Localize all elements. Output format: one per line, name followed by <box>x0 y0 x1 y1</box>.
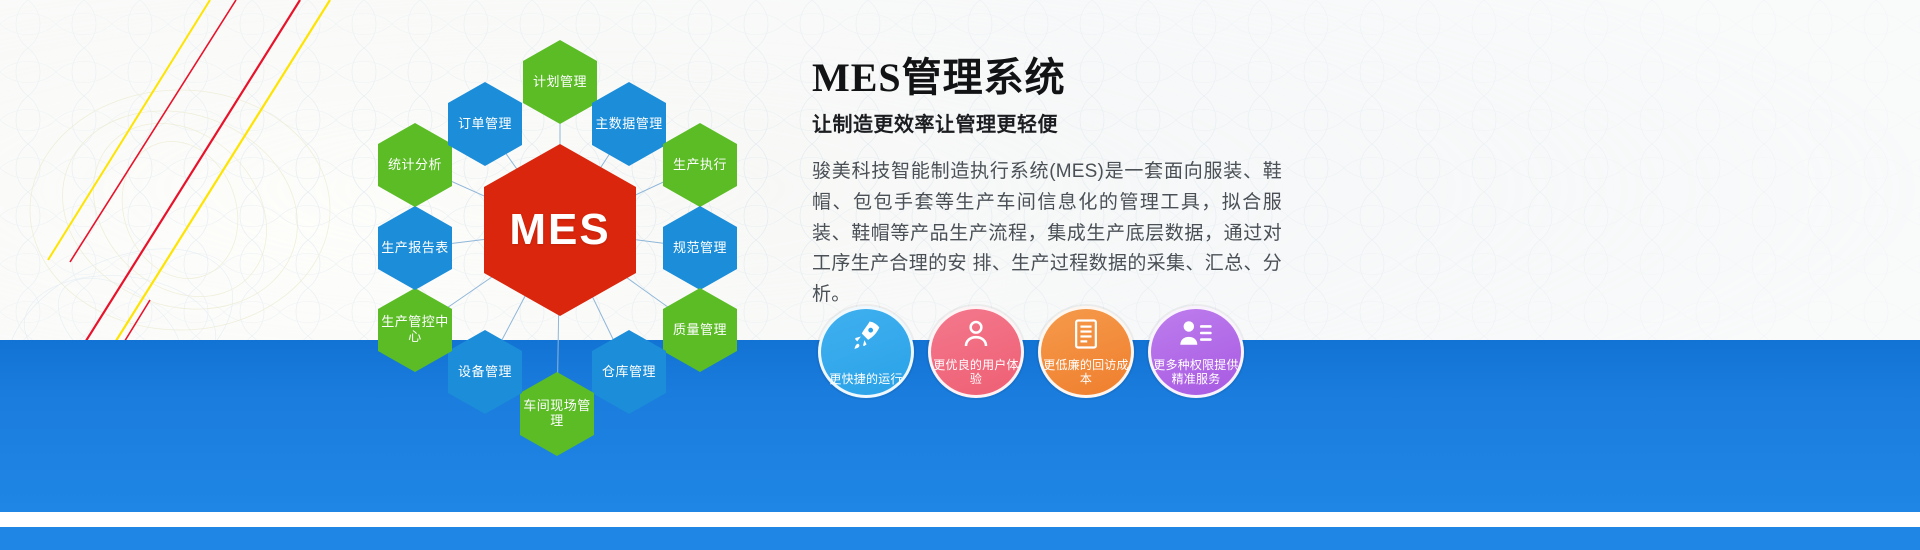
badge-precise-permission-service[interactable]: 更多种权限提供精准服务 <box>1148 306 1244 398</box>
hex-label: 生产管控中心 <box>378 315 452 345</box>
mes-hexagon-diagram: MES 计划管理 主数据管理 生产执行 规范管理 质量管理 仓库管理 车间现场管… <box>330 20 790 440</box>
banner-text-column: MES管理系统 让制造更效率让管理更轻便 骏美科技智能制造执行系统(MES)是一… <box>812 56 1282 311</box>
blue-bottom-strip <box>0 527 1920 550</box>
badge-label: 更快捷的运行 <box>823 372 909 387</box>
hex-label: 质量管理 <box>673 323 727 338</box>
hex-node-warehouse-management[interactable]: 仓库管理 <box>592 330 666 414</box>
page-description: 骏美科技智能制造执行系统(MES)是一套面向服装、鞋帽、包包手套等生产车间信息化… <box>812 157 1282 311</box>
hex-node-production-control-center[interactable]: 生产管控中心 <box>378 288 452 372</box>
page-title: MES管理系统 <box>812 56 1282 100</box>
white-gap <box>0 512 1920 527</box>
hex-label: 生产执行 <box>673 158 727 173</box>
hex-node-production-report[interactable]: 生产报告表 <box>378 206 452 290</box>
diagram-core-label: MES <box>509 205 610 256</box>
badge-label: 更优良的用户体验 <box>933 358 1019 387</box>
page-subtitle: 让制造更效率让管理更轻便 <box>812 108 1282 137</box>
hex-node-equipment-management[interactable]: 设备管理 <box>448 330 522 414</box>
feature-badge-row: 更快捷的运行 更优良的用户体验 更低廉的回访成本 <box>818 306 1244 398</box>
banner-stage: MES 计划管理 主数据管理 生产执行 规范管理 质量管理 仓库管理 车间现场管… <box>0 0 1920 550</box>
diagram-core-node[interactable]: MES <box>484 144 636 316</box>
badge-lower-revisit-cost[interactable]: 更低廉的回访成本 <box>1038 306 1134 398</box>
hex-label: 生产报告表 <box>381 241 449 256</box>
hex-node-quality-management[interactable]: 质量管理 <box>663 288 737 372</box>
hex-node-plan-management[interactable]: 计划管理 <box>523 40 597 124</box>
badge-label: 更低廉的回访成本 <box>1043 358 1129 387</box>
badge-better-user-experience[interactable]: 更优良的用户体验 <box>928 306 1024 398</box>
hex-node-order-management[interactable]: 订单管理 <box>448 82 522 166</box>
hex-label: 计划管理 <box>533 75 587 90</box>
hex-label: 统计分析 <box>388 158 442 173</box>
user-list-icon <box>1179 318 1213 353</box>
rocket-icon <box>849 318 883 357</box>
hex-label: 仓库管理 <box>602 365 656 380</box>
hex-label: 车间现场管理 <box>520 399 594 429</box>
hex-node-production-execution[interactable]: 生产执行 <box>663 123 737 207</box>
hex-node-standard-management[interactable]: 规范管理 <box>663 206 737 290</box>
hex-label: 主数据管理 <box>595 117 663 132</box>
hex-node-statistical-analysis[interactable]: 统计分析 <box>378 123 452 207</box>
hex-label: 规范管理 <box>673 241 727 256</box>
badge-faster-operation[interactable]: 更快捷的运行 <box>818 306 914 398</box>
hex-node-master-data-management[interactable]: 主数据管理 <box>592 82 666 166</box>
badge-label: 更多种权限提供精准服务 <box>1153 358 1239 387</box>
hex-label: 设备管理 <box>458 365 512 380</box>
document-icon <box>1071 318 1101 355</box>
hex-label: 订单管理 <box>458 117 512 132</box>
user-icon <box>960 318 992 355</box>
